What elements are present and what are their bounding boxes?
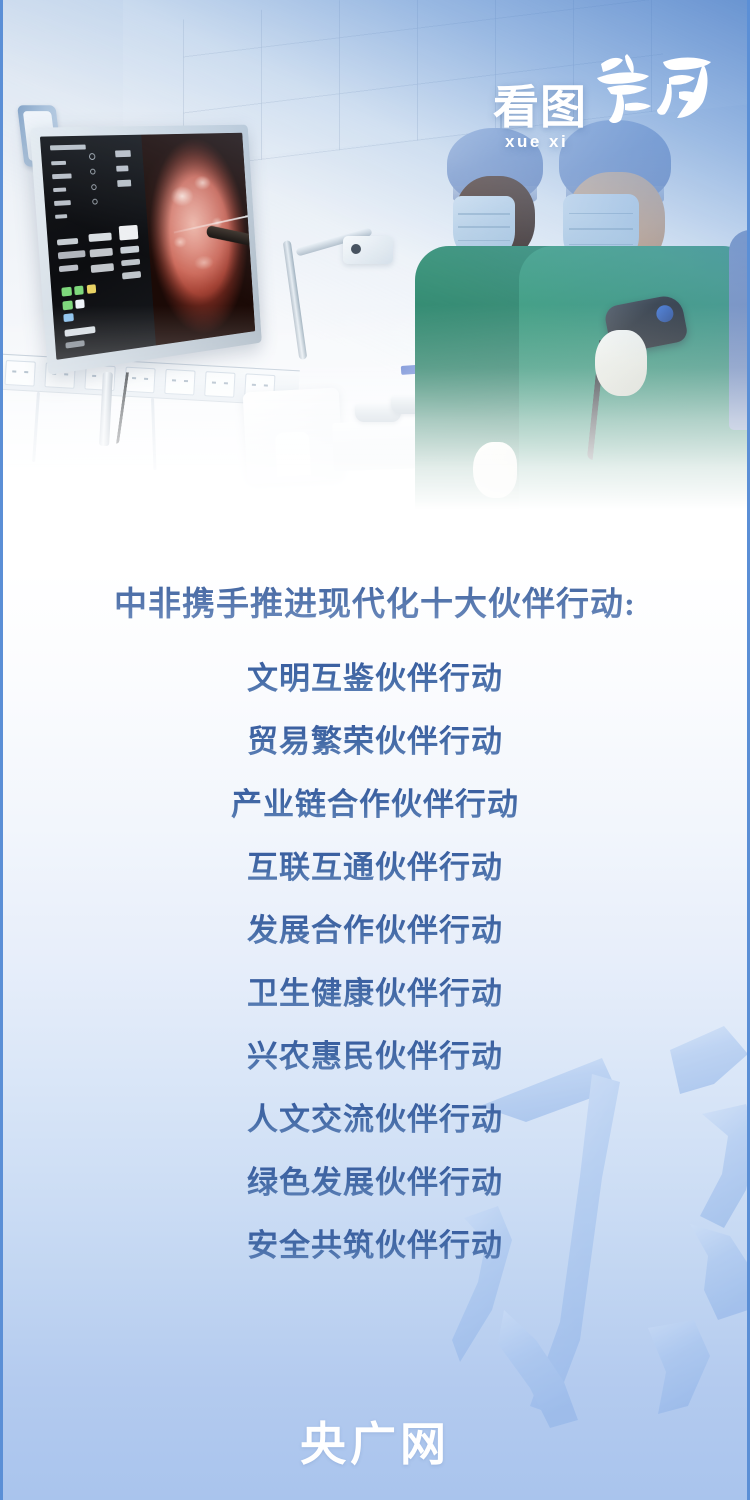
list-item: 卫生健康伙伴行动 — [3, 962, 747, 1025]
content-area: 中非携手推进现代化十大伙伴行动: 文明互鉴伙伴行动 贸易繁荣伙伴行动 产业链合作… — [3, 525, 747, 1277]
list-item: 贸易繁荣伙伴行动 — [3, 710, 747, 773]
list-item: 发展合作伙伴行动 — [3, 899, 747, 962]
list-item: 绿色发展伙伴行动 — [3, 1151, 747, 1214]
brand-logo: 看图 — [493, 48, 719, 152]
publisher-logo: 央广网 — [300, 1421, 450, 1467]
brand-logo-pinyin: xue xi — [493, 132, 719, 152]
list-item: 人文交流伙伴行动 — [3, 1088, 747, 1151]
action-list: 文明互鉴伙伴行动 贸易繁荣伙伴行动 产业链合作伙伴行动 互联互通伙伴行动 发展合… — [3, 625, 747, 1277]
poster-root: 看图 — [0, 0, 750, 1500]
list-item: 产业链合作伙伴行动 — [3, 773, 747, 836]
list-item: 文明互鉴伙伴行动 — [3, 647, 747, 710]
brand-logo-calligraphy-xuexi-icon — [591, 48, 719, 130]
list-item: 安全共筑伙伴行动 — [3, 1214, 747, 1277]
brand-logo-title: 看图 — [493, 84, 587, 130]
footer: 央广网 — [3, 1388, 747, 1500]
list-item: 兴农惠民伙伴行动 — [3, 1025, 747, 1088]
page-title: 中非携手推进现代化十大伙伴行动: — [3, 525, 747, 625]
list-item: 互联互通伙伴行动 — [3, 836, 747, 899]
